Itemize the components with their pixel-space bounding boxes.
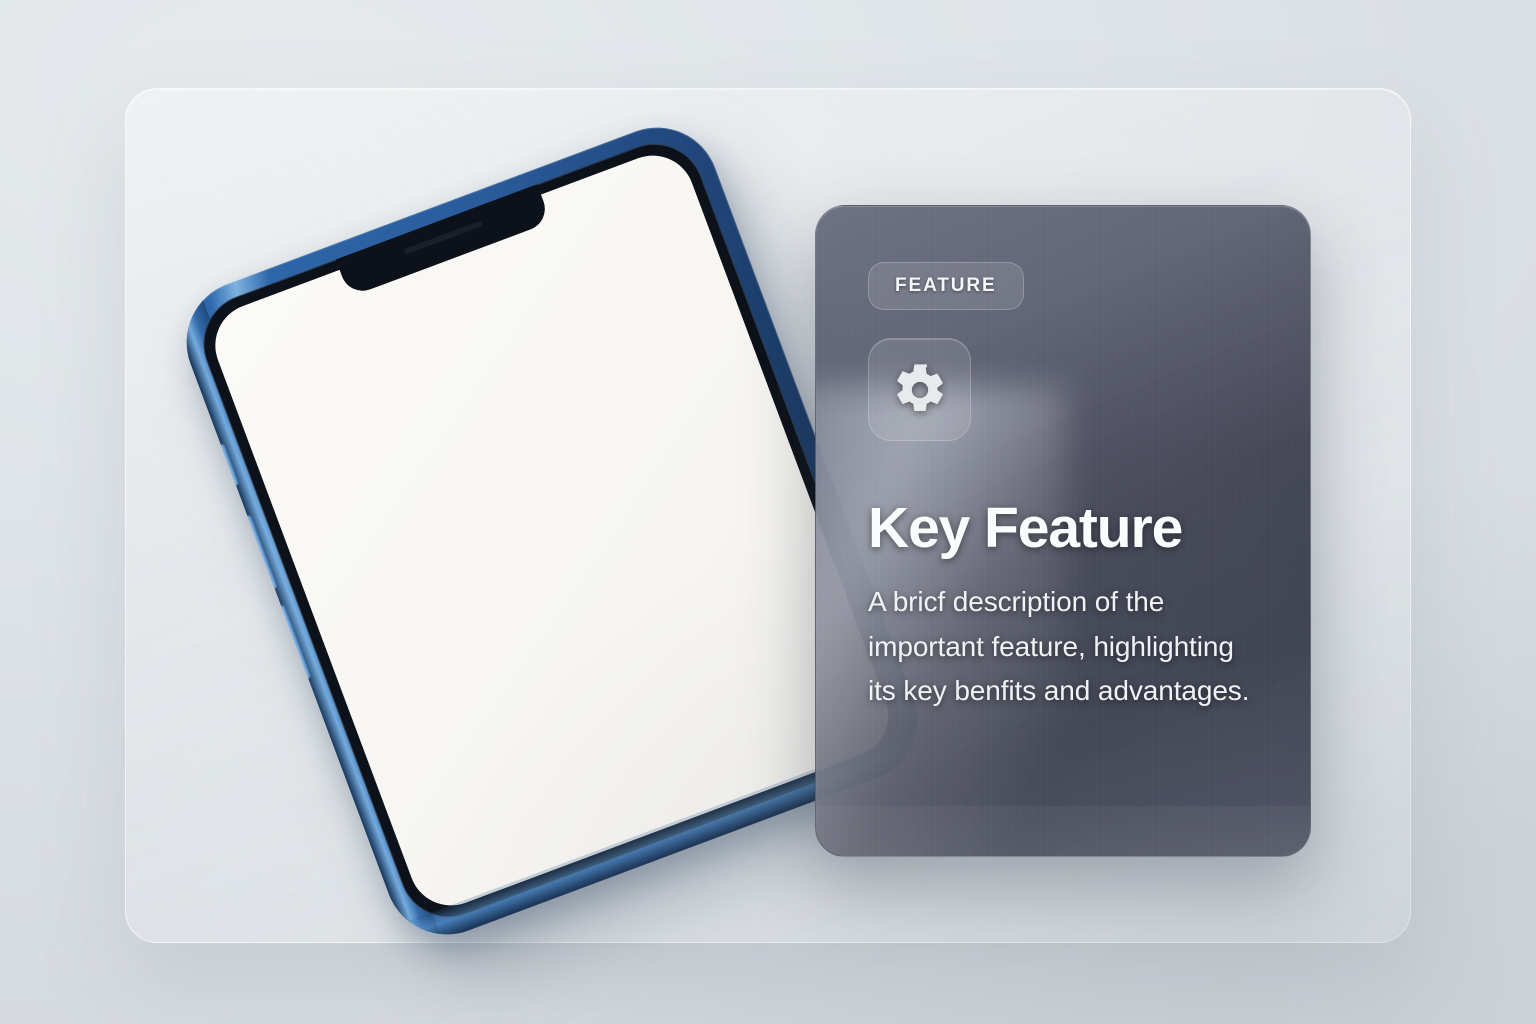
mockup-scene: FEATURE Key Feature A bricf description … (0, 0, 1536, 1024)
feature-icon-tile[interactable] (868, 338, 971, 441)
earpiece-speaker-icon (402, 219, 483, 255)
card-lower-band (816, 806, 1310, 856)
gear-icon (892, 362, 948, 418)
card-content: FEATURE Key Feature A bricf description … (868, 262, 1266, 713)
page-title: Key Feature (868, 499, 1266, 558)
feature-card: FEATURE Key Feature A bricf description … (815, 205, 1311, 857)
card-description: A bricf description of the important fea… (868, 580, 1266, 713)
status-badge: FEATURE (868, 262, 1024, 310)
